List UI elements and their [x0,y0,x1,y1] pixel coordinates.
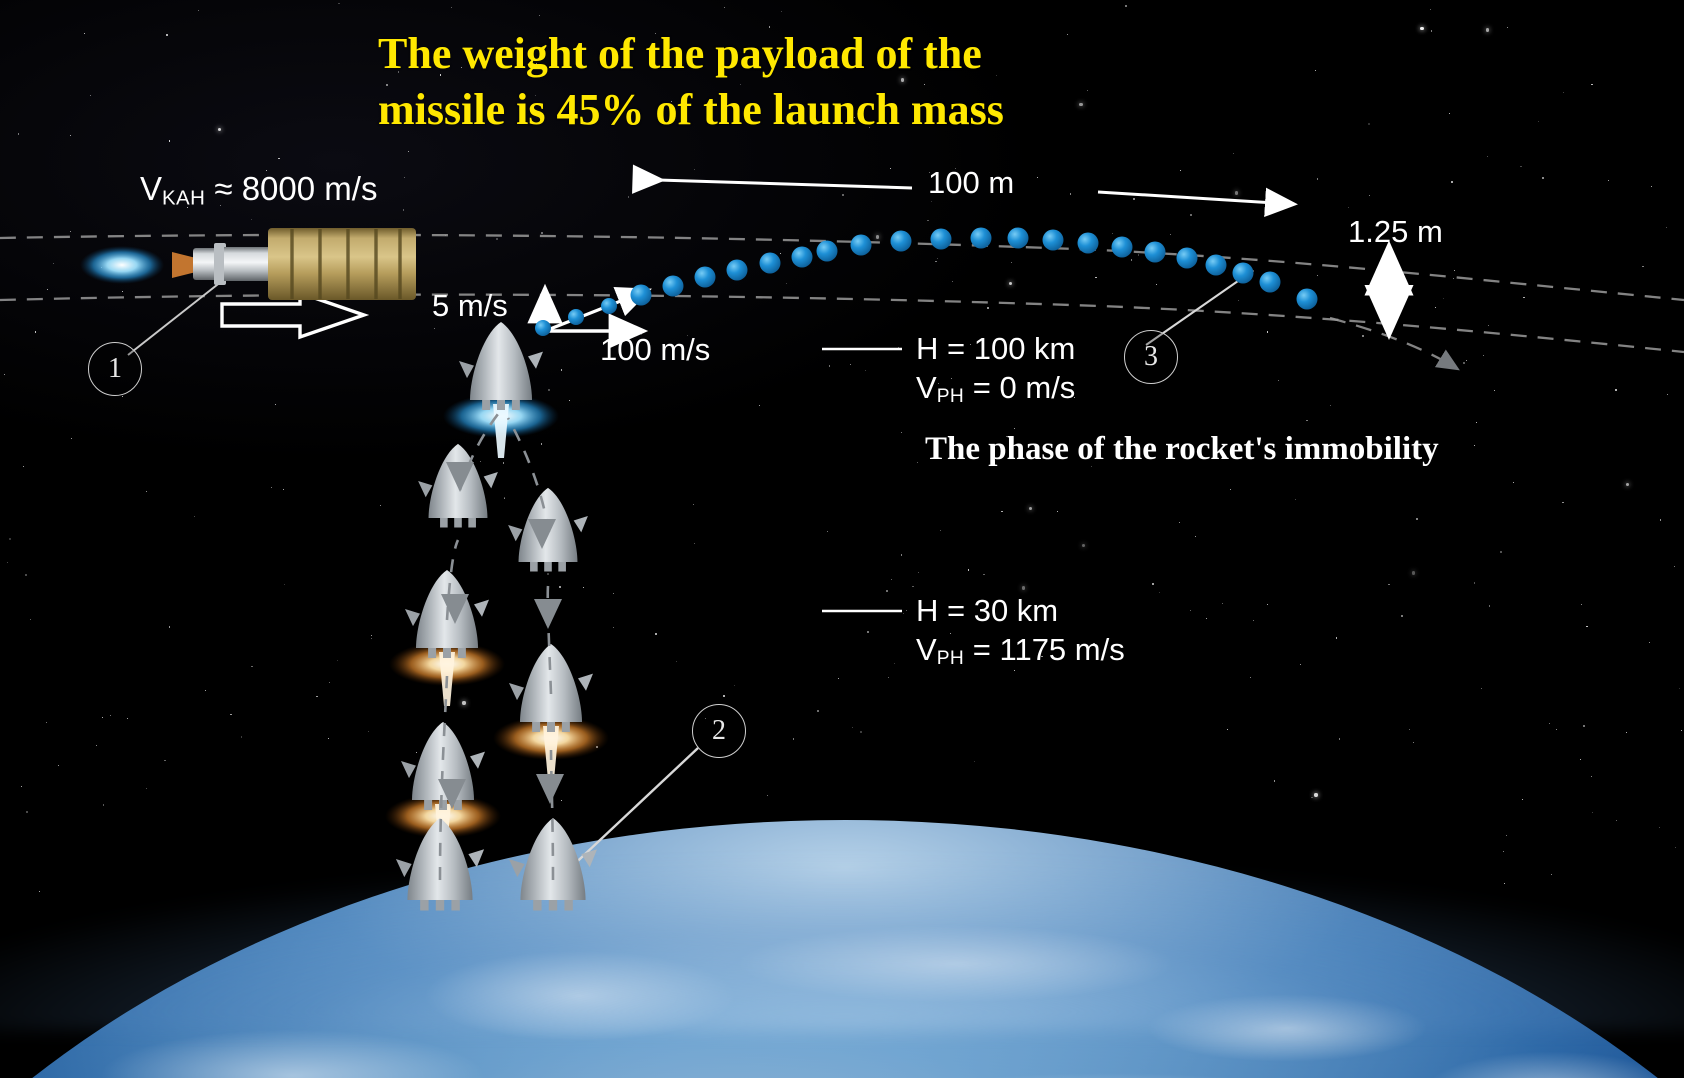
trajectory-dot [1145,242,1166,263]
trajectory-dot [631,285,652,306]
orbital-spacecraft [80,228,416,300]
trajectory-dot [1260,272,1281,293]
trajectory-dot [817,241,838,262]
trajectory-dot [760,253,781,274]
vph0-symbol: V [916,370,937,405]
spacecraft-exhaust-plume [80,246,164,284]
callout-1-leader [128,281,222,355]
diagram-canvas: The weight of the payload of the missile… [0,0,1684,1078]
rocket [443,322,559,458]
rocket-fin [508,525,522,541]
rocket-fin [574,516,588,532]
page-title: The weight of the payload of the missile… [378,26,1004,139]
label-height-125m: 1.25 m [1348,214,1443,250]
trajectory-dot [1112,237,1133,258]
trajectory-dot [663,276,684,297]
trajectory-dot [727,260,748,281]
trajectory-dot [971,228,992,249]
spacecraft-nozzle-cone [172,252,196,278]
rocket-fin [470,752,485,769]
trajectory-dot [1008,228,1029,249]
rocket-fin [509,859,525,877]
trajectory-dot [1177,248,1198,269]
dimension-100m-left [658,180,912,188]
callout-marker-2: 2 [692,704,746,758]
rocket-body [470,322,532,400]
spacecraft-midsection [224,247,270,281]
rocket [509,818,597,910]
rocket-fin [405,609,420,626]
path-direction-arrow [534,599,562,629]
label-vertical-speed: 5 m/s [432,288,508,324]
vph1175-subscript: PH [937,648,964,669]
callout-marker-3: 3 [1124,330,1178,384]
rocket-fin [509,683,524,700]
dimension-100m-right [1098,192,1292,204]
vkah-symbol: V [140,170,162,207]
trajectory-dot [1233,263,1254,284]
trajectory-dot [1206,255,1227,276]
trajectory-dot [601,298,617,314]
label-vkah: VKAH ≈ 8000 m/s [140,170,377,211]
rocket-fin [484,472,498,488]
label-horizontal-speed: 100 m/s [600,332,710,368]
label-span-100m: 100 m [928,165,1014,201]
rocket-fin [401,761,416,778]
path-direction-arrow [536,774,564,804]
rocket-fin [578,674,593,691]
vph0-subscript: PH [937,386,964,407]
trajectory-dot [931,229,952,250]
trajectory-dot [851,235,872,256]
rocket-fin [396,859,412,877]
trajectory-dot [1297,289,1318,310]
trajectory-dot [535,320,551,336]
label-immobility-phase: The phase of the rocket's immobility [925,431,1439,468]
vph1175-symbol: V [916,632,937,667]
diagram-vector-overlay [0,0,1684,1078]
label-vph-0: VPH = 0 m/s [916,370,1075,408]
label-vph-1175: VPH = 1175 m/s [916,632,1125,670]
rocket-fin [474,600,489,617]
rocket-fin [418,481,432,497]
rocket-fin [581,849,597,867]
trajectory-dot [1078,233,1099,254]
trajectory-dot [695,267,716,288]
rocket-fin [468,849,484,867]
spacecraft-body [268,228,416,300]
vkah-value: ≈ 8000 m/s [214,170,377,207]
rocket-fin [528,352,543,369]
trajectory-dot [568,309,584,325]
trajectory-dot [891,231,912,252]
spacecraft-engine-section [193,248,217,280]
rocket-fleet [385,322,609,911]
vph0-value: = 0 m/s [973,370,1076,405]
trajectory-dot [792,247,813,268]
label-h-100km: H = 100 km [916,331,1075,367]
vkah-subscript: KAH [162,187,205,210]
label-h-30km: H = 30 km [916,593,1058,629]
trajectory-dot [1043,230,1064,251]
callout-marker-1: 1 [88,342,142,396]
rocket-fin [459,361,474,378]
vph1175-value: = 1175 m/s [973,632,1125,667]
corridor-exit-arrow [1330,318,1456,368]
